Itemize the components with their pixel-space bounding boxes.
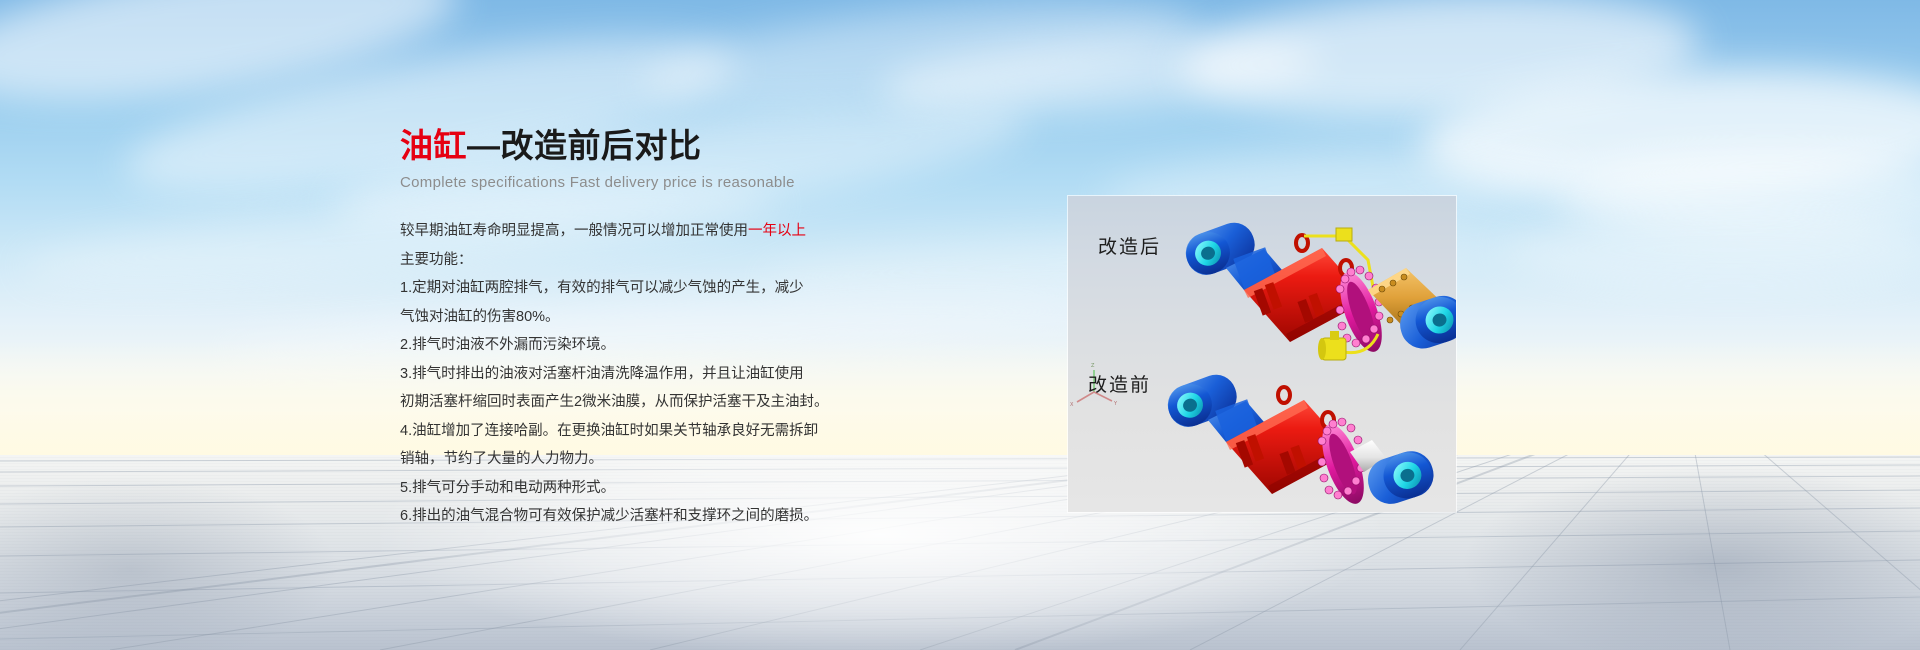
feature-line: 4.油缸增加了连接哈副。在更换油缸时如果关节轴承良好无需拆卸 (400, 417, 920, 446)
intro-line-text: 较早期油缸寿命明显提高，一般情况可以增加正常使用 (400, 223, 748, 239)
feature-line: 3.排气时排出的油液对活塞杆油清洗降温作用，并且让油缸使用 (400, 360, 920, 389)
feature-line: 销轴，节约了大量的人力物力。 (400, 445, 920, 474)
ground-shading-left (0, 475, 340, 650)
intro-line-highlight: 一年以上 (748, 223, 806, 239)
plaza-ground (0, 455, 1920, 650)
ground-shading-right (1460, 465, 1920, 650)
horizon-haze (0, 340, 1920, 460)
section-label: 主要功能： (400, 246, 920, 275)
intro-line: 较早期油缸寿命明显提高，一般情况可以增加正常使用一年以上 (400, 217, 920, 246)
copy-block: 油缸—改造前后对比 Complete specifications Fast d… (400, 128, 920, 531)
label-after-modification: 改造后 (1098, 232, 1161, 259)
cylinder-after-group (1180, 217, 1456, 360)
svg-text:Y: Y (1113, 401, 1118, 407)
feature-line: 2.排气时油液不外漏而污染环境。 (400, 331, 920, 360)
cloud-streak (637, 0, 1203, 129)
feature-line: 初期活塞杆缩回时表面产生2微米油膜，从而保护活塞干及主油封。 (400, 388, 920, 417)
feature-line: 5.排气可分手动和电动两种形式。 (400, 474, 920, 503)
sky-background (0, 0, 1920, 458)
svg-text:X: X (1070, 402, 1074, 408)
page-title-rest: —改造前后对比 (467, 127, 702, 164)
feature-line: 6.排出的油气混合物可有效保护减少活塞杆和支撑环之间的磨损。 (400, 502, 920, 531)
feature-line: 气蚀对油缸的伤害80%。 (400, 303, 920, 332)
cloud-streak (1177, 0, 1703, 129)
svg-text:Z: Z (1091, 363, 1095, 369)
product-image-panel: Z X Y 改造后 改造前 (1068, 196, 1456, 512)
page-title: 油缸—改造前后对比 (400, 128, 920, 164)
cloud-streak (1500, 210, 1920, 290)
cloud-streak (878, 25, 1322, 126)
feature-text: 较早期油缸寿命明显提高，一般情况可以增加正常使用一年以上 主要功能： 1.定期对… (400, 217, 920, 531)
cylinder-before-group (1162, 369, 1439, 510)
cloud-streak (0, 0, 466, 126)
page-subtitle: Complete specifications Fast delivery pr… (400, 174, 920, 191)
cloud-streak (1418, 60, 1920, 209)
cloud-streak (1560, 150, 1920, 240)
promo-banner: 油缸—改造前后对比 Complete specifications Fast d… (0, 0, 1920, 650)
feature-line: 1.定期对油缸两腔排气，有效的排气可以减少气蚀的产生，减少 (400, 274, 920, 303)
page-title-accent: 油缸 (400, 127, 467, 164)
label-before-modification: 改造前 (1088, 370, 1151, 397)
